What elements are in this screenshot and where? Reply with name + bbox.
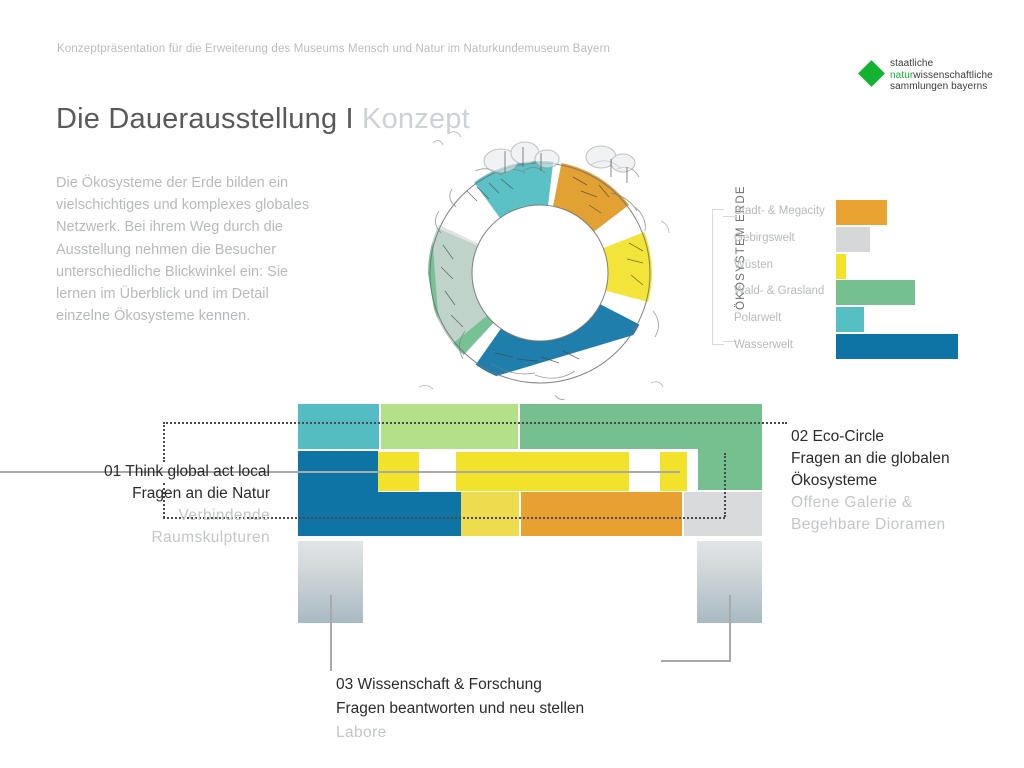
- zone-label-01-line1: 01 Think global act local: [30, 461, 270, 483]
- chart-category-label: Wasserwelt: [734, 339, 832, 351]
- chart-bar: [836, 307, 864, 332]
- connector-label-03-left-vertical: [330, 595, 332, 671]
- connector-label-03-right-vertical: [729, 595, 731, 661]
- zone-label-02-line4: Offene Galerie &: [791, 492, 1021, 514]
- plan-block-eco-circle-green: [520, 404, 762, 449]
- chart-category-label: Polarwelt: [734, 312, 832, 324]
- dotted-connector-right: [724, 453, 726, 517]
- intro-paragraph: Die Ökosysteme der Erde bilden ein viels…: [56, 172, 326, 327]
- zone-label-01-line2: Fragen an die Natur: [30, 483, 270, 505]
- logo-line-2-green: natur: [890, 70, 913, 81]
- zone-label-02: 02 Eco-Circle Fragen an die globalen Öko…: [791, 426, 1021, 536]
- chart-bar: [836, 200, 887, 225]
- zone-label-02-line5: Begehbare Dioramen: [791, 514, 1021, 536]
- logo-wordmark: staatliche naturwissenschaftliche sammlu…: [890, 58, 993, 93]
- chart-row: Stadt- & Megacity: [734, 200, 980, 225]
- logo-line-1: staatliche: [890, 58, 993, 70]
- plan-block-green-extension: [698, 449, 762, 490]
- chart-category-label: Wüsten: [734, 259, 832, 271]
- diamond-icon: [858, 60, 885, 87]
- logo-line-3: sammlungen bayerns: [890, 81, 993, 93]
- chart-category-label: Gebirgswelt: [734, 232, 832, 244]
- eco-circle-illustration: [405, 125, 675, 405]
- zone-label-02-line1: 02 Eco-Circle: [791, 426, 1021, 448]
- organization-logo: staatliche naturwissenschaftliche sammlu…: [862, 58, 994, 98]
- zone-label-03: 03 Wissenschaft & Forschung Fragen beant…: [336, 673, 666, 745]
- chart-bar: [836, 227, 870, 252]
- zone-label-01-line4: Raumskulpturen: [30, 527, 270, 549]
- plan-block-soft-yellow: [461, 492, 519, 536]
- zone-label-03-line2: Fragen beantworten und neu stellen: [336, 697, 666, 721]
- logo-line-2-rest: wissenschaftliche: [913, 70, 993, 81]
- zone-label-03-line3: Labore: [336, 721, 666, 745]
- logo-line-2: naturwissenschaftliche: [890, 70, 993, 82]
- chart-category-label: Wald- & Grasland: [734, 285, 832, 297]
- connector-label-01: [270, 471, 310, 473]
- zone-label-01-line3: Verbindende: [30, 505, 270, 527]
- chart-row: Wüsten: [734, 254, 980, 279]
- plan-block-wasserwelt-lower: [298, 492, 461, 536]
- zone-label-01: 01 Think global act local Fragen an die …: [30, 461, 270, 549]
- chart-category-label: Stadt- & Megacity: [734, 205, 832, 217]
- plan-block-gebirgswelt: [684, 492, 762, 536]
- dotted-connector-top: [163, 422, 787, 424]
- dotted-connector-left-upper: [163, 422, 165, 462]
- connector-label-03-horizontal: [661, 660, 731, 662]
- zone-label-02-line3: Ökosysteme: [791, 470, 1021, 492]
- chart-row: Wald- & Grasland: [734, 280, 980, 305]
- slide-kicker: Konzeptpräsentation für die Erweiterung …: [57, 43, 610, 55]
- chart-bar: [836, 280, 915, 305]
- chart-bar: [836, 254, 846, 279]
- plan-block-light-green: [381, 404, 518, 449]
- ecosystem-bar-chart: ÖKOSYSTEM ERDE Stadt- & Megacity Gebirgs…: [690, 200, 980, 360]
- chart-bar: [836, 334, 958, 359]
- chart-bracket: [712, 209, 724, 345]
- zone-label-02-line2: Fragen an die globalen: [791, 448, 1021, 470]
- plan-block-polarwelt: [298, 404, 379, 449]
- slide-canvas: Konzeptpräsentation für die Erweiterung …: [0, 0, 1024, 768]
- chart-rows: Stadt- & Megacity Gebirgswelt Wüsten Wal…: [734, 200, 980, 360]
- zone-label-03-line1: 03 Wissenschaft & Forschung: [336, 673, 666, 697]
- plan-block-stadt-megacity: [521, 492, 682, 536]
- chart-row: Polarwelt: [734, 307, 980, 332]
- chart-row: Wasserwelt: [734, 334, 980, 359]
- page-title-main: Die Dauerausstellung I: [56, 103, 362, 135]
- chart-row: Gebirgswelt: [734, 227, 980, 252]
